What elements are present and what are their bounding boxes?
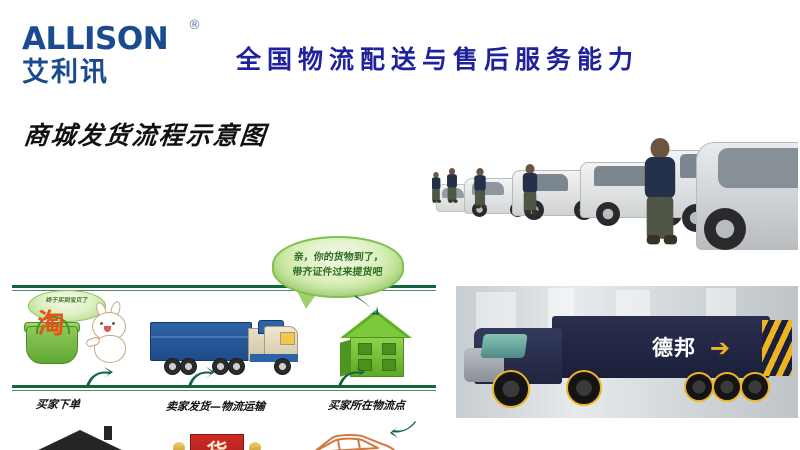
shipping-flow-diagram: 商城发货流程示意图 终于买到宝贝了 淘	[0, 108, 448, 420]
flow-rail-bottom-thin	[12, 390, 436, 391]
truck-trailer	[150, 322, 252, 361]
logistics-speech-text: 亲，你的货物到了， 带齐证件过来提货吧	[273, 250, 404, 280]
page-title: 全国物流配送与售后服务能力	[236, 40, 756, 76]
rabbit-eye-left	[100, 322, 103, 325]
logistics-truck-photo: 德邦 ➔	[456, 286, 798, 418]
mover-figure	[170, 442, 188, 450]
truck-wheel	[492, 370, 530, 408]
flow-rail-bottom	[12, 385, 436, 388]
taobao-char: 淘	[32, 310, 70, 340]
arrow-icon: ➔	[710, 336, 730, 362]
truck-wheel	[274, 358, 291, 375]
flow-arrow-icon	[336, 366, 366, 393]
truck-windshield	[480, 334, 527, 358]
diagram-title: 商城发货流程示意图	[22, 116, 269, 152]
registered-trademark-icon: ®	[188, 18, 201, 33]
house-window	[358, 343, 372, 355]
truck-wheel	[740, 372, 770, 402]
flow-label-station: 买家所在物流点	[327, 397, 405, 413]
fleet-vehicle-glass	[718, 148, 798, 188]
truck-wheel	[566, 370, 602, 406]
company-logo: ALLISON ® 艾利讯	[22, 22, 207, 88]
truck-skirt	[250, 354, 298, 362]
logo-wordmark: ALLISON	[22, 22, 207, 56]
rabbit-eye-right	[112, 322, 115, 325]
logistics-speech-line-2: 带齐证件过来提货吧	[273, 265, 402, 280]
fleet-vehicle-wheel	[704, 208, 746, 250]
truck-brand-name: 德邦	[652, 334, 696, 362]
truck-trailer-line	[151, 336, 251, 338]
truck-window	[280, 332, 295, 345]
house-window	[382, 359, 396, 371]
goods-crate-char: 货	[191, 440, 243, 450]
truck-wheel	[164, 358, 181, 375]
logo-chinese-name: 艾利讯	[22, 58, 207, 88]
house-roof	[32, 430, 128, 450]
rabbit-mascot-icon	[84, 304, 136, 366]
truck-hazard-stripe	[762, 320, 792, 376]
logistics-speech-line-1: 亲，你的货物到了，	[274, 250, 403, 265]
movers-carrying-goods-icon: 货	[166, 430, 270, 450]
service-fleet-photo	[432, 112, 798, 272]
semi-truck-icon	[150, 320, 302, 382]
truck-wheel	[684, 372, 714, 402]
truck-wheel	[228, 358, 245, 375]
flow-label-order: 买家下单	[35, 396, 80, 412]
buyer-home-house-icon	[32, 426, 128, 450]
logistics-speech-bubble: 亲，你的货物到了， 带齐证件过来提货吧	[272, 236, 404, 298]
slide-canvas: ALLISON ® 艾利讯 全国物流配送与售后服务能力 商城发货流程示意图 终于…	[0, 0, 800, 450]
flow-arrow-icon	[186, 366, 216, 393]
shopping-basket-icon: 淘	[24, 308, 78, 364]
fleet-vehicle-glass	[594, 166, 652, 186]
flow-label-ship: 卖家发货—物流运输	[165, 398, 265, 414]
goods-crate: 货	[190, 434, 244, 450]
truck-brand-logo: 德邦 ➔	[652, 334, 730, 364]
house-window	[382, 343, 396, 355]
flow-arrow-icon	[390, 420, 418, 445]
truck-wheel	[712, 372, 742, 402]
flow-arrow-down-icon	[354, 294, 380, 321]
flow-arrow-icon	[84, 366, 114, 393]
mover-figure	[246, 442, 264, 450]
fleet-vehicle-wheel	[596, 202, 620, 226]
